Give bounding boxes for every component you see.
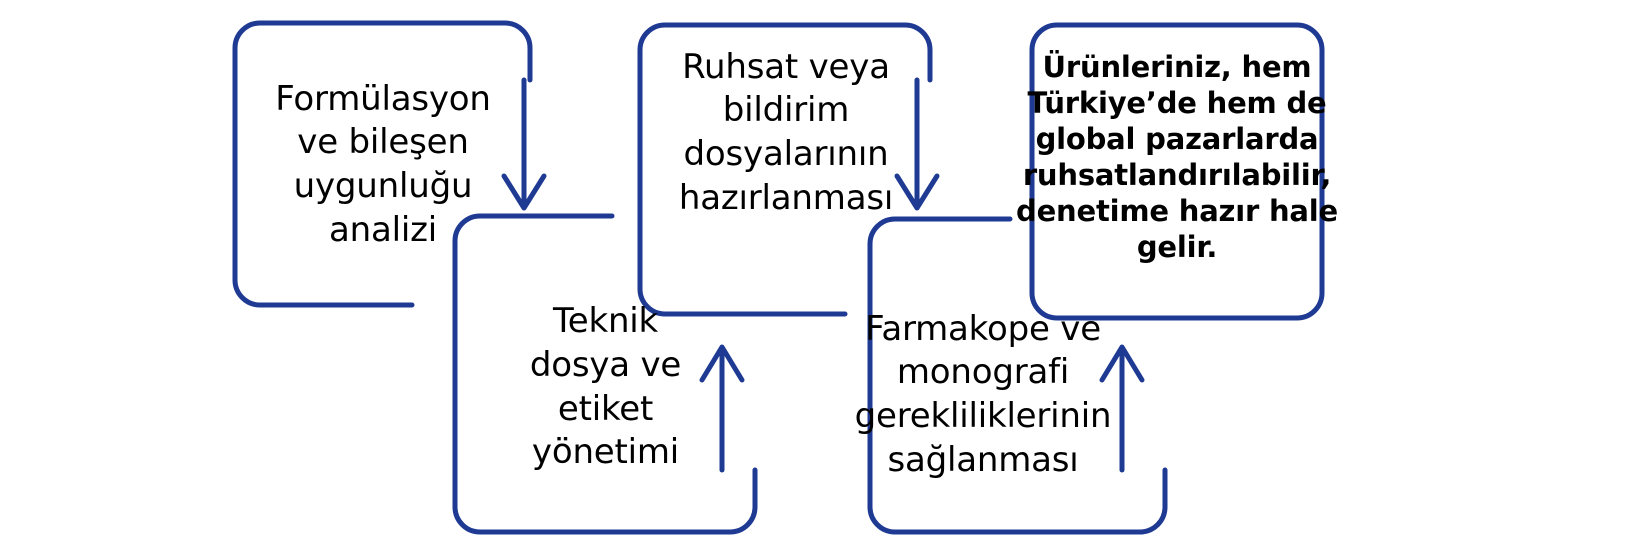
process-flow-diagram: Formülasyon ve bileşen uygunluğu analizi… <box>0 0 1646 555</box>
step-5-box <box>1032 25 1322 318</box>
step-3-box <box>640 25 930 314</box>
step-2-box <box>455 216 755 532</box>
step-1-box <box>235 23 530 305</box>
flow-diagram-svg <box>0 0 1646 555</box>
